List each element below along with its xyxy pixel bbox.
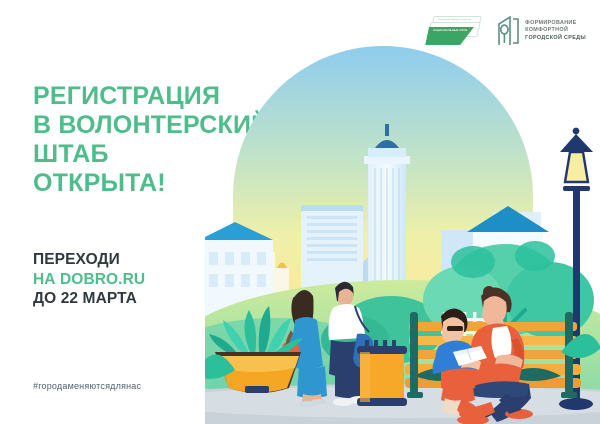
city-park-illustration xyxy=(205,0,600,424)
clock-tower xyxy=(364,124,410,300)
callout-line-1: ПЕРЕХОДИ xyxy=(33,250,145,270)
callout-block: ПЕРЕХОДИ НА DOBRO.RU ДО 22 МАРТА xyxy=(33,250,145,309)
hashtag: #городаменяютсядлянас xyxy=(33,381,141,391)
trash-bin xyxy=(357,340,407,406)
poster-root: НАЦИОНАЛЬНЫЕ ПРОЕКТЫ НАЦИОНАЛЬНЫЕ ПРОЕКТ… xyxy=(0,0,600,424)
callout-line-3: ДО 22 МАРТА xyxy=(33,289,145,309)
callout-line-2: НА DOBRO.RU xyxy=(33,270,145,290)
city-park-scene-svg xyxy=(205,0,600,424)
